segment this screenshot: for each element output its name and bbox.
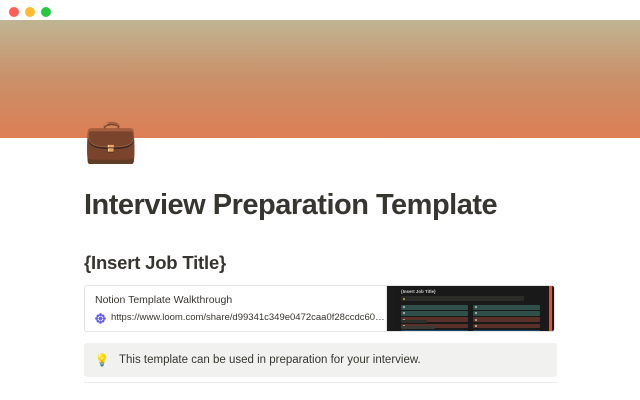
thumbnail-row — [473, 324, 540, 329]
bookmark-text-area: Notion Template Walkthrough — [85, 286, 386, 331]
maximize-button[interactable] — [41, 7, 51, 17]
thumbnail-inner: {Insert Job Title} — [393, 286, 550, 331]
window-titlebar — [0, 0, 640, 20]
thumbnail-row — [473, 317, 540, 322]
thumbnail-row — [473, 330, 540, 331]
page-subtitle: {Insert Job Title} — [84, 252, 564, 274]
thumbnail-row — [401, 330, 468, 331]
bookmark-card[interactable]: Notion Template Walkthrough — [84, 285, 555, 332]
callout-block[interactable]: 💡 This template can be used in preparati… — [84, 343, 557, 377]
close-button[interactable] — [9, 7, 19, 17]
thumbnail-accent-edge — [549, 286, 552, 331]
callout-text: This template can be used in preparation… — [119, 352, 421, 368]
page-content: 💼 Interview Preparation Template {Insert… — [0, 138, 640, 400]
thumbnail-callout-bar — [401, 296, 524, 301]
lightbulb-icon: 💡 — [94, 352, 110, 368]
app-window: 💼 Interview Preparation Template {Insert… — [0, 0, 640, 400]
traffic-light-group — [9, 7, 51, 17]
bookmark-link-row[interactable]: https://www.loom.com/share/d99341c349e04… — [95, 312, 386, 324]
loom-favicon-icon — [95, 313, 106, 324]
bookmark-thumbnail[interactable]: {Insert Job Title} — [386, 286, 554, 331]
thumbnail-row — [473, 311, 540, 316]
thumbnail-heading: {Insert Job Title} — [401, 289, 436, 294]
thumbnail-columns — [401, 305, 540, 321]
thumbnail-column-left — [401, 305, 468, 321]
minimize-button[interactable] — [25, 7, 35, 17]
thumbnail-column-right — [473, 305, 540, 321]
thumbnail-row — [473, 305, 540, 310]
content-divider — [84, 382, 557, 383]
bookmark-title: Notion Template Walkthrough — [95, 293, 386, 307]
bookmark-url[interactable]: https://www.loom.com/share/d99341c349e04… — [111, 312, 386, 324]
thumbnail-row — [401, 311, 468, 316]
thumbnail-footer-bar-1 — [401, 320, 427, 323]
thumbnail-footer-bar-2 — [401, 326, 435, 329]
page-icon-briefcase[interactable]: 💼 — [84, 117, 132, 165]
page-title: Interview Preparation Template — [84, 188, 564, 222]
thumbnail-row — [401, 305, 468, 310]
